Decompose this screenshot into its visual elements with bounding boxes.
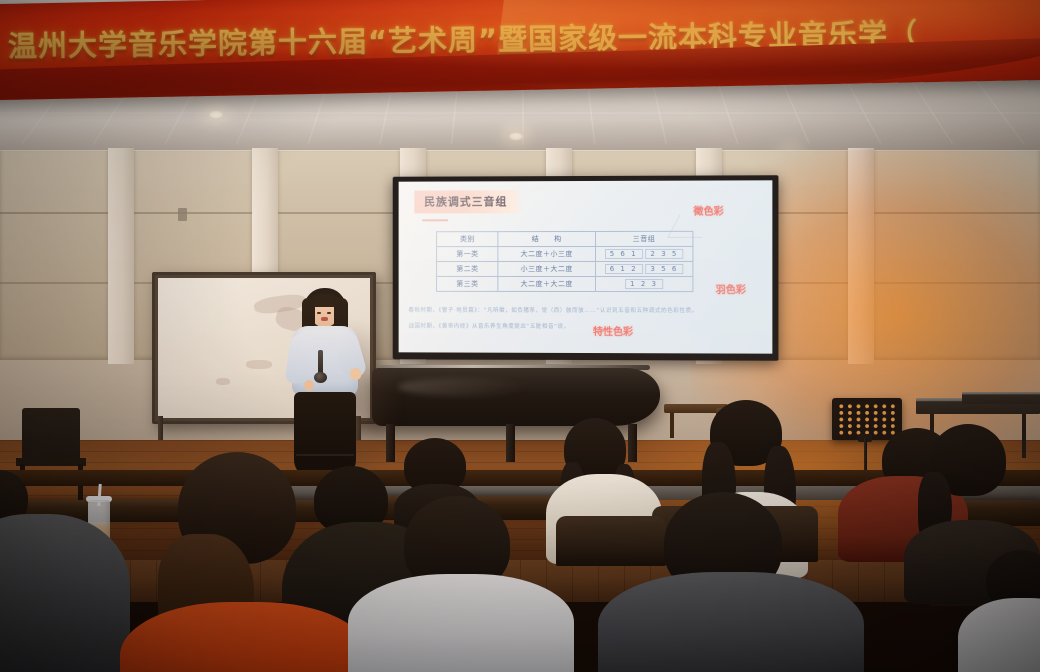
presenter-mouth <box>321 317 328 321</box>
bench-leg <box>670 412 674 438</box>
stage-chair <box>22 408 80 460</box>
banner-text: 温州大学音乐学院第十六届“艺术周”暨国家级一流本科专业音乐学（ <box>8 11 919 66</box>
whiteboard-smudge <box>246 360 272 369</box>
slide-annotation-yu: 羽色彩 <box>716 281 746 296</box>
note-group: 5 6 1 <box>605 249 643 259</box>
piano-leg <box>628 424 637 462</box>
note-group: 6 1 2 <box>605 264 643 274</box>
table-cell-notes: 5 6 1 2 3 5 <box>595 246 693 261</box>
piano-reflection <box>398 378 528 396</box>
note-group: 1 2 3 <box>625 279 663 289</box>
slide-title-box: 民族调式三音组 <box>414 190 523 213</box>
audience-body <box>598 572 864 672</box>
slide-paragraph: 战国时期，《黄帝内经》从音乐养生角度提出“五脏相音”说。 <box>408 323 707 333</box>
wall-acoustic-panel <box>874 150 1040 360</box>
slide-table: 类别 结 构 三音组 第一类 大二度＋小三度 5 6 1 2 3 5 第二类 小… <box>436 231 693 292</box>
table-row: 第三类 大二度＋大二度 1 2 3 <box>437 276 693 291</box>
slide-annotation-zhi: 徵色彩 <box>693 203 723 218</box>
table-cell-structure: 大二度＋大二度 <box>498 276 595 291</box>
table-header-cell: 三音组 <box>595 231 693 246</box>
note-group: 3 5 6 <box>645 264 683 274</box>
table-header-cell: 类别 <box>437 232 499 247</box>
presenter-eye <box>317 312 321 314</box>
presenter-hand-left <box>304 380 314 391</box>
folding-table <box>962 392 1040 404</box>
presenter-skirt <box>294 392 356 478</box>
slide-title: 民族调式三音组 <box>424 195 507 208</box>
audience-body <box>958 598 1040 672</box>
table-cell-structure: 小三度＋大二度 <box>498 261 595 276</box>
slide-accent-rule <box>422 219 448 221</box>
stage-chair-seat <box>16 458 86 466</box>
slide-surface: 民族调式三音组 类别 结 构 三音组 第一类 大二度＋小三度 5 6 1 2 3… <box>399 180 773 353</box>
slide-annotation-texing: 特性色彩 <box>593 323 633 338</box>
audience-body <box>0 514 130 672</box>
presenter-eye <box>327 312 331 314</box>
table-cell-notes: 6 1 2 3 5 6 <box>595 261 693 276</box>
table-row: 第二类 小三度＋大二度 6 1 2 3 5 6 <box>437 261 693 276</box>
projection-screen: 民族调式三音组 类别 结 构 三音组 第一类 大二度＋小三度 5 6 1 2 3… <box>393 175 779 361</box>
auditorium-chair-back <box>556 516 666 566</box>
wall-pilaster <box>108 148 134 364</box>
piano-leg <box>506 424 515 462</box>
music-stand-perforations <box>837 403 897 435</box>
wall-pilaster <box>848 148 874 364</box>
table-cell-category: 第二类 <box>437 262 499 277</box>
note-group: 2 3 5 <box>645 249 683 259</box>
table-cell-structure: 大二度＋小三度 <box>498 246 595 261</box>
table-cell-category: 第一类 <box>437 247 499 262</box>
whiteboard-smudge <box>216 378 230 385</box>
ceiling-downlight <box>208 110 224 119</box>
table-cell-category: 第三类 <box>437 276 499 291</box>
table-leg <box>1022 414 1026 458</box>
table-header-row: 类别 结 构 三音组 <box>437 231 693 246</box>
slide-paragraph: 春秋时期，《管子·地员篇》：“凡听徵，如负猪豕，觉（而）骇而骇……”认识到五音和… <box>408 307 707 317</box>
table-cell-notes: 1 2 3 <box>595 277 693 292</box>
table-header-cell: 结 构 <box>498 231 595 246</box>
audience-body <box>348 574 574 672</box>
grand-piano <box>372 368 660 426</box>
microphone-head <box>314 372 327 383</box>
wall-acoustic-panel <box>0 150 108 360</box>
table-row: 第一类 大二度＋小三度 5 6 1 2 3 5 <box>437 246 693 261</box>
wall-fixture <box>178 208 187 221</box>
lecture-hall-photo: 温州大学音乐学院第十六届“艺术周”暨国家级一流本科专业音乐学（ 民族调式三音组 <box>0 0 1040 672</box>
slide-body-text: 春秋时期，《管子·地员篇》：“凡听徵，如负猪豕，觉（而）骇而骇……”认识到五音和… <box>408 307 707 340</box>
